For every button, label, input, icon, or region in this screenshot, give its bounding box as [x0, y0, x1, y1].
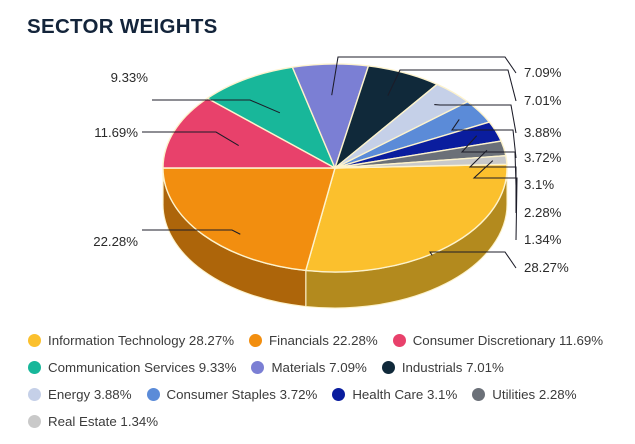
callout-label: 11.69% — [94, 125, 138, 140]
callout-label: 2.28% — [524, 205, 562, 220]
legend-swatch-icon — [28, 361, 41, 374]
legend-item-consumer-discretionary[interactable]: Consumer Discretionary 11.69% — [393, 331, 603, 349]
callout-label: 22.28% — [93, 234, 138, 249]
legend-swatch-icon — [147, 388, 160, 401]
legend-item-consumer-staples[interactable]: Consumer Staples 3.72% — [147, 385, 318, 403]
legend-item-information-technology[interactable]: Information Technology 28.27% — [28, 331, 234, 349]
callout-label: 28.27% — [524, 260, 569, 275]
legend-swatch-icon — [28, 415, 41, 428]
callout-label: 3.72% — [524, 150, 562, 165]
legend-item-financials-[interactable]: Financials 22.28% — [249, 331, 378, 349]
legend-swatch-icon — [472, 388, 485, 401]
callout-label: 7.09% — [524, 65, 562, 80]
legend-swatch-icon — [28, 388, 41, 401]
legend-label: Consumer Staples 3.72% — [167, 387, 318, 402]
pie-chart-figure: 9.33%11.69%22.28%7.09%7.01%3.88%3.72%3.1… — [0, 0, 635, 320]
legend-item-energy-[interactable]: Energy 3.88% — [28, 385, 132, 403]
legend-label: Materials 7.09% — [271, 360, 366, 375]
sector-weights-chart-panel: SECTOR WEIGHTS 9.33%11.69%22.28%7.09%7.0… — [0, 0, 635, 444]
legend-label: Communication Services 9.33% — [48, 360, 236, 375]
legend-label: Real Estate 1.34% — [48, 414, 158, 429]
legend-label: Information Technology 28.27% — [48, 333, 234, 348]
callout-label: 9.33% — [111, 70, 149, 85]
legend-item-health-care[interactable]: Health Care 3.1% — [332, 385, 457, 403]
legend-swatch-icon — [332, 388, 345, 401]
callout-label: 7.01% — [524, 93, 562, 108]
legend-label: Utilities 2.28% — [492, 387, 576, 402]
legend-swatch-icon — [393, 334, 406, 347]
legend-swatch-icon — [251, 361, 264, 374]
legend-item-utilities-[interactable]: Utilities 2.28% — [472, 385, 576, 403]
legend-label: Energy 3.88% — [48, 387, 132, 402]
callout-label: 1.34% — [524, 232, 562, 247]
legend-label: Financials 22.28% — [269, 333, 378, 348]
legend-swatch-icon — [382, 361, 395, 374]
legend-label: Health Care 3.1% — [352, 387, 457, 402]
legend-item-materials-[interactable]: Materials 7.09% — [251, 358, 366, 376]
pie-top-slices-group — [163, 64, 507, 272]
legend-swatch-icon — [28, 334, 41, 347]
legend-label: Consumer Discretionary 11.69% — [413, 333, 603, 348]
chart-legend: Information Technology 28.27%Financials … — [28, 331, 628, 439]
legend-label: Industrials 7.01% — [402, 360, 504, 375]
callout-label: 3.1% — [524, 177, 554, 192]
legend-swatch-icon — [249, 334, 262, 347]
callout-label: 3.88% — [524, 125, 562, 140]
legend-item-real-estate[interactable]: Real Estate 1.34% — [28, 412, 158, 430]
legend-item-industrials-[interactable]: Industrials 7.01% — [382, 358, 504, 376]
legend-item-communication-services[interactable]: Communication Services 9.33% — [28, 358, 236, 376]
